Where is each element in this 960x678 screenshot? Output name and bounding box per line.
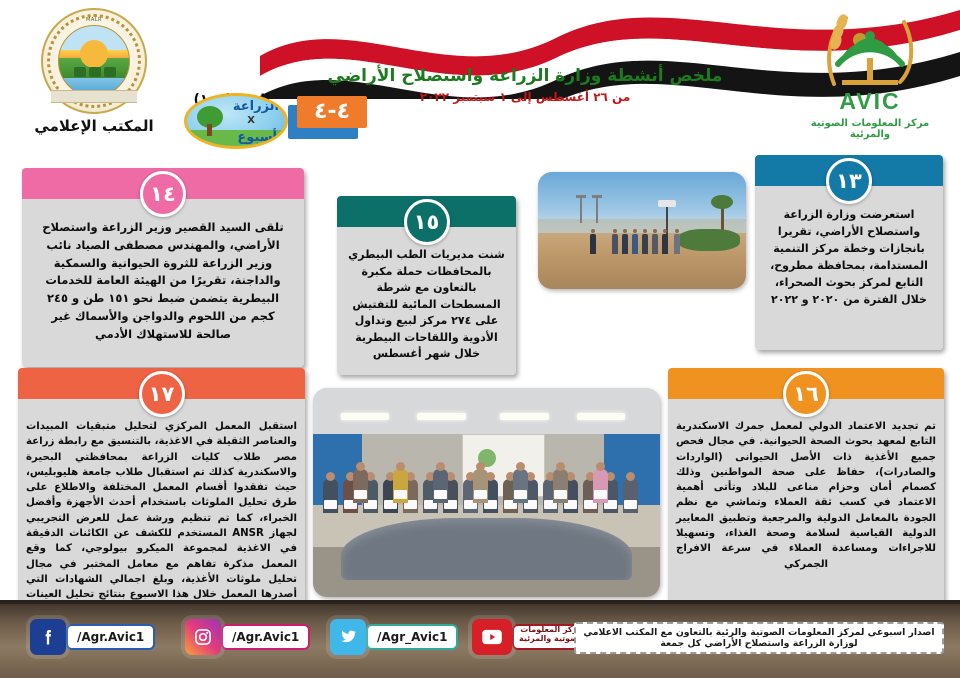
week-number-label: ٤-٤ <box>297 96 367 128</box>
card-text: استعرضت وزارة الزراعة واستصلاح الأراضي، … <box>755 186 943 350</box>
emblem-top-text: MALR <box>43 17 145 23</box>
news-card-13: ١٣ استعرضت وزارة الزراعة واستصلاح الأراض… <box>755 155 943 350</box>
infographic-page: MALR المكتب الإعلامي ملخص أنشطة وزارة ال… <box>0 0 960 678</box>
avic-name: AVIC <box>794 90 946 113</box>
card-text: شنت مديريات الطب البيطري بالمحافظات حملة… <box>337 227 516 375</box>
card-header: ١٤ <box>22 168 304 199</box>
card-number-badge: ١٥ <box>404 199 450 245</box>
field-visit-photo <box>538 172 746 289</box>
social-link-instagram[interactable]: /Agr.Avic1 <box>185 620 302 654</box>
card-header: ١٣ <box>755 155 943 186</box>
card-text: استقبل المعمل المركزي لتحليل متبقيات الم… <box>18 399 305 618</box>
twitter-handle: /Agr_Avic1 <box>366 624 458 650</box>
footer-note: اصدار اسبوعي لمركز المعلومات الصوتية وال… <box>574 622 944 654</box>
agriculture-week-badge: الزراعة X أسبوع <box>184 93 288 149</box>
news-card-14: ١٤ تلقى السيد القصير وزير الزراعة واستصل… <box>22 168 304 367</box>
card-header: ١٧ <box>18 368 305 399</box>
card-header: ١٦ <box>668 368 944 399</box>
card-number-badge: ١٧ <box>139 371 185 417</box>
social-link-twitter[interactable]: /Agr_Avic1 <box>330 620 450 654</box>
ministry-emblem-icon: MALR <box>41 8 147 114</box>
facebook-icon <box>30 619 66 655</box>
week-badge-line2: X <box>247 115 255 126</box>
avic-subtitle: مركز المعلومات الصوتية والمرئية <box>794 118 946 140</box>
card-text: تم تجديد الاعتماد الدولي لمعمل جمرك الاس… <box>668 399 944 618</box>
avic-broadcast-wheat-icon <box>816 6 924 90</box>
week-badge-line3: أسبوع <box>237 130 277 145</box>
page-title: ملخص أنشطة وزارة الزراعة واستصلاح الأراض… <box>290 66 760 86</box>
card-number-badge: ١٤ <box>140 171 186 217</box>
ministry-logo: MALR المكتب الإعلامي <box>28 8 160 148</box>
card-text: تلقى السيد القصير وزير الزراعة واستصلاح … <box>22 199 304 367</box>
twitter-icon <box>330 619 366 655</box>
certificates-hall-photo <box>313 388 660 597</box>
social-link-facebook[interactable]: /Agr.Avic1 <box>30 620 147 654</box>
instagram-icon <box>185 619 221 655</box>
ministry-logo-caption: المكتب الإعلامي <box>28 117 160 135</box>
card-header: ١٥ <box>337 196 516 227</box>
card-number-badge: ١٣ <box>826 158 872 204</box>
news-card-16: ١٦ تم تجديد الاعتماد الدولي لمعمل جمرك ا… <box>668 368 944 618</box>
avic-logo: AVIC مركز المعلومات الصوتية والمرئية <box>794 6 946 146</box>
week-number-box: ٤-٤ <box>297 96 367 134</box>
instagram-handle: /Agr.Avic1 <box>221 624 310 650</box>
news-card-15: ١٥ شنت مديريات الطب البيطري بالمحافظات ح… <box>337 196 516 375</box>
footer: /Agr.Avic1 /Agr.Avic1 /Agr_Avic1 مركز ال… <box>0 600 960 678</box>
week-badge-line1: الزراعة <box>233 99 279 114</box>
youtube-icon <box>472 619 512 655</box>
social-link-youtube[interactable]: مركز المعلومات الصوتية والمرئية <box>472 620 583 654</box>
facebook-handle: /Agr.Avic1 <box>66 624 155 650</box>
card-number-badge: ١٦ <box>783 371 829 417</box>
news-card-17: ١٧ استقبل المعمل المركزي لتحليل متبقيات … <box>18 368 305 618</box>
header: MALR المكتب الإعلامي ملخص أنشطة وزارة ال… <box>0 0 960 152</box>
